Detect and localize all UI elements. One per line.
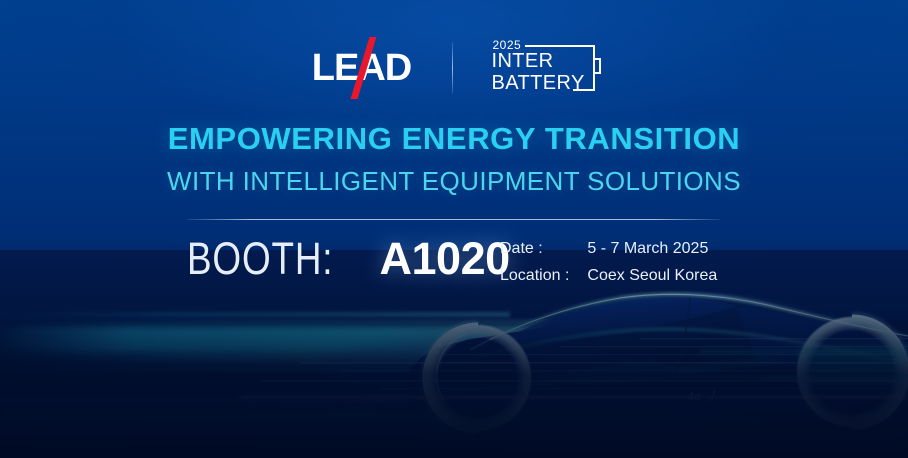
date-label: Date : xyxy=(500,239,569,259)
booth-number: A1020 xyxy=(380,236,510,281)
booth-label: BOOTH: xyxy=(187,236,333,281)
headline-secondary: WITH INTELLIGENT EQUIPMENT SOLUTIONS xyxy=(0,167,908,196)
interbattery-line2: BATTERY xyxy=(492,73,585,93)
lead-logo: LEAD xyxy=(308,45,416,91)
interbattery-line1: INTER xyxy=(492,51,554,71)
battery-outline-icon xyxy=(593,45,595,91)
svg-text:4ο: 4ο xyxy=(688,391,701,403)
logo-divider xyxy=(452,42,453,94)
interbattery-top-rule xyxy=(525,45,593,47)
logo-row: LEAD 2025 INTER BATTERY xyxy=(0,36,908,100)
battery-terminal-side-icon xyxy=(599,58,601,74)
booth-block: BOOTH: A1020 xyxy=(187,236,510,281)
section-divider xyxy=(187,219,720,220)
promotional-banner: 4ο LEAD 2025 xyxy=(0,0,908,458)
event-info-block: Date : 5 - 7 March 2025 Location : Coex … xyxy=(500,239,717,286)
interbattery-bottom-rule xyxy=(573,89,595,91)
headline-primary: EMPOWERING ENERGY TRANSITION xyxy=(0,122,908,156)
date-value: 5 - 7 March 2025 xyxy=(587,239,717,259)
location-value: Coex Seoul Korea xyxy=(587,266,717,286)
interbattery-logo: 2025 INTER BATTERY xyxy=(489,40,601,96)
location-label: Location : xyxy=(500,266,569,286)
